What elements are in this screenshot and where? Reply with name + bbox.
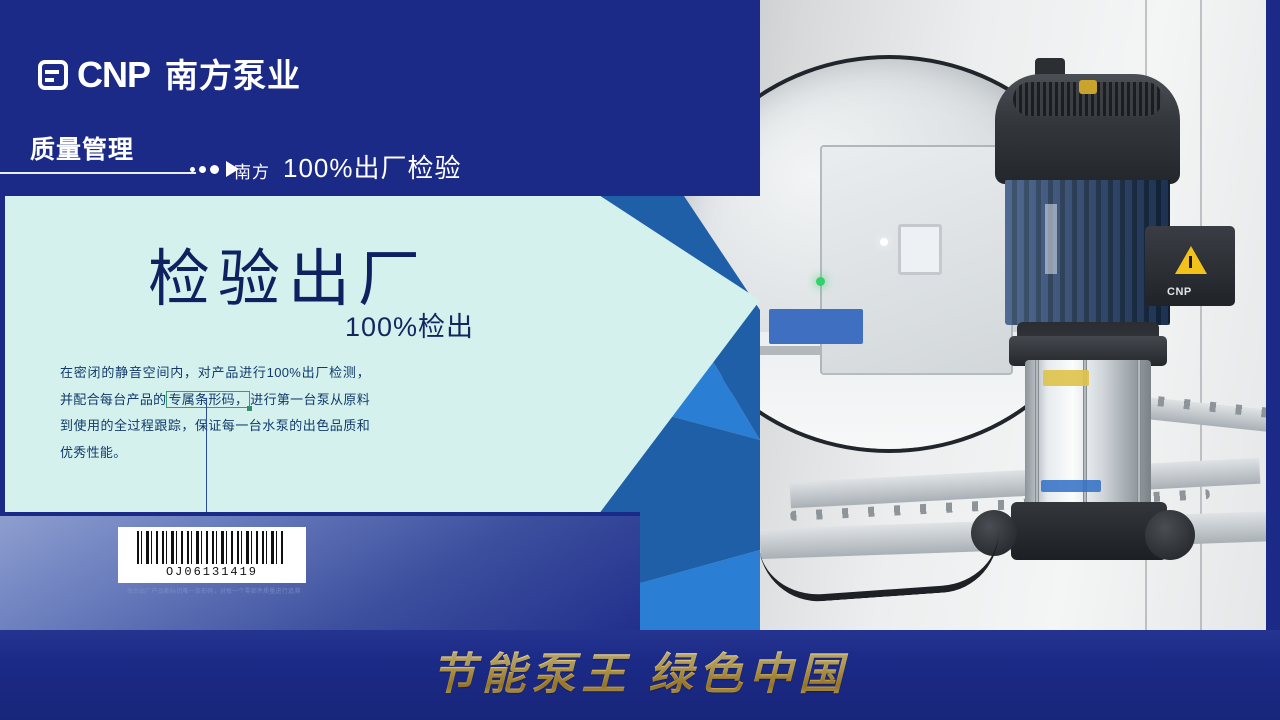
logo-latin-text: CNP [77, 57, 150, 93]
panel-bottom-border [0, 512, 640, 516]
sleeve-tie-rod [1035, 360, 1039, 510]
yellow-sticker [1043, 370, 1089, 386]
panel-left-border [0, 196, 5, 512]
slide: CNP [0, 0, 1280, 720]
cnp-logo-mark-icon [38, 60, 68, 90]
highlight-handle[interactable] [247, 406, 252, 411]
highlighted-term: 专属条形码， [166, 391, 250, 408]
logo-chinese-text: 南方泵业 [165, 59, 301, 92]
barcode-card: OJ06131419 [118, 527, 306, 583]
motor-label [1045, 204, 1057, 274]
callout-connector-line [206, 398, 207, 530]
bullet-dot-icon [190, 167, 195, 172]
cnp-badge: CNP [1167, 286, 1192, 298]
barcode-number: OJ06131419 [166, 565, 258, 579]
sleeve-tie-rod [1137, 360, 1141, 510]
blue-decal [1041, 480, 1101, 492]
discharge-flange [1145, 510, 1195, 560]
bullet-dot-icon [210, 165, 219, 174]
footer-slogan: 节能泵王 绿色中国 [0, 638, 1280, 702]
company-short-name: 南方 [234, 158, 270, 183]
blue-cart [769, 309, 864, 344]
body-paragraph: 在密闭的静音空间内，对产品进行100%出厂检测，并配合每台产品的专属条形码，进行… [60, 360, 370, 467]
motor-fan-cover [995, 74, 1180, 184]
room-window [898, 224, 942, 275]
bullet-dot-icon [199, 166, 206, 173]
fan-nut [1079, 80, 1097, 94]
barcode-caption: 每台出厂产品都标识唯一条形码，对每一个零部件质量进行追溯 [116, 586, 311, 595]
pump-assembly: CNP [995, 40, 1245, 600]
section-title: 质量管理 [30, 130, 134, 166]
warning-triangle-icon [1175, 246, 1207, 274]
brand-logo[interactable]: CNP 南方泵业 [38, 57, 301, 93]
bullet-arrow-group [190, 161, 239, 177]
header-divider [0, 172, 196, 174]
header-headline: 100%出厂检验 [283, 148, 462, 185]
barcode-bars [137, 531, 287, 564]
lower-left-gradient [0, 512, 640, 630]
footer-band: 节能泵王 绿色中国 [0, 630, 1280, 720]
junction-box: CNP [1145, 226, 1235, 306]
photo-right-border [1266, 0, 1280, 630]
pump-sleeve [1025, 360, 1151, 510]
page-subtitle: 100%检出 [345, 305, 474, 344]
highlighted-term-label: 专属条形码， [168, 392, 248, 407]
pump-base [1011, 502, 1167, 560]
